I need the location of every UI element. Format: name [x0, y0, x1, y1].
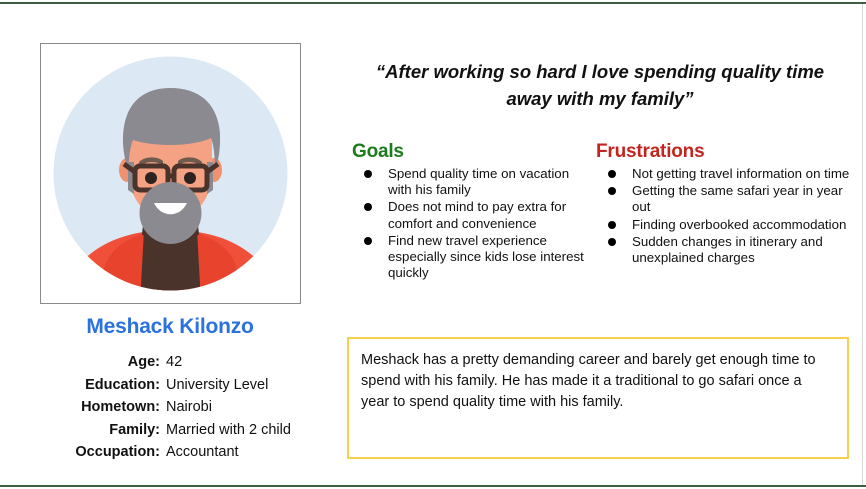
list-item-text: Does not mind to pay extra for comfort a…: [388, 199, 566, 230]
bio-text: Meshack has a pretty demanding career an…: [361, 350, 833, 413]
demographic-label: Education:: [0, 375, 166, 398]
bullet-icon: [608, 170, 616, 178]
list-item: Getting the same safari year in year out: [608, 183, 852, 215]
table-row: Education: University Level: [0, 375, 330, 398]
table-row: Hometown: Nairobi: [0, 397, 330, 420]
demographic-label: Occupation:: [0, 442, 166, 465]
demographic-value: 42: [166, 352, 330, 375]
list-item-text: Find new travel experience especially si…: [388, 233, 584, 280]
persona-sections: Goals Spend quality time on vacation wit…: [352, 141, 852, 282]
demographic-value: Nairobi: [166, 397, 330, 420]
list-item-text: Spend quality time on vacation with his …: [388, 166, 569, 197]
bullet-icon: [608, 187, 616, 195]
goals-heading: Goals: [352, 141, 596, 163]
right-edge-line: [862, 4, 863, 485]
bio-box: Meshack has a pretty demanding career an…: [347, 337, 849, 459]
demographic-label: Family:: [0, 420, 166, 443]
avatar: [40, 43, 301, 304]
list-item: Sudden changes in itinerary and unexplai…: [608, 234, 852, 266]
table-row: Occupation: Accountant: [0, 442, 330, 465]
list-item-text: Getting the same safari year in year out: [632, 183, 843, 214]
list-item-text: Finding overbooked accommodation: [632, 217, 846, 232]
list-item: Not getting travel information on time: [608, 166, 852, 182]
list-item: Find new travel experience especially si…: [364, 233, 596, 282]
demographic-value: Accountant: [166, 442, 330, 465]
bullet-icon: [364, 203, 372, 211]
frustrations-list: Not getting travel information on time G…: [596, 166, 852, 266]
list-item: Finding overbooked accommodation: [608, 217, 852, 233]
frustrations-section: Frustrations Not getting travel informat…: [596, 141, 852, 282]
bullet-icon: [364, 170, 372, 178]
demographic-value: University Level: [166, 375, 330, 398]
list-item-text: Not getting travel information on time: [632, 166, 849, 181]
list-item: Spend quality time on vacation with his …: [364, 166, 596, 198]
table-row: Age: 42: [0, 352, 330, 375]
persona-name: Meshack Kilonzo: [0, 315, 340, 339]
list-item-text: Sudden changes in itinerary and unexplai…: [632, 234, 823, 265]
avatar-illustration-icon: [41, 44, 300, 303]
goals-section: Goals Spend quality time on vacation wit…: [352, 141, 596, 282]
demographic-label: Hometown:: [0, 397, 166, 420]
demographic-label: Age:: [0, 352, 166, 375]
table-row: Family: Married with 2 child: [0, 420, 330, 443]
bullet-icon: [608, 238, 616, 246]
persona-quote: “After working so hard I love spending q…: [352, 58, 848, 112]
persona-identity-panel: Meshack Kilonzo Age: 42 Education: Unive…: [0, 0, 340, 489]
demographic-value: Married with 2 child: [166, 420, 330, 443]
demographics-table: Age: 42 Education: University Level Home…: [0, 352, 330, 465]
goals-list: Spend quality time on vacation with his …: [352, 166, 596, 281]
bullet-icon: [364, 237, 372, 245]
list-item: Does not mind to pay extra for comfort a…: [364, 199, 596, 231]
frustrations-heading: Frustrations: [596, 141, 852, 163]
bullet-icon: [608, 221, 616, 229]
